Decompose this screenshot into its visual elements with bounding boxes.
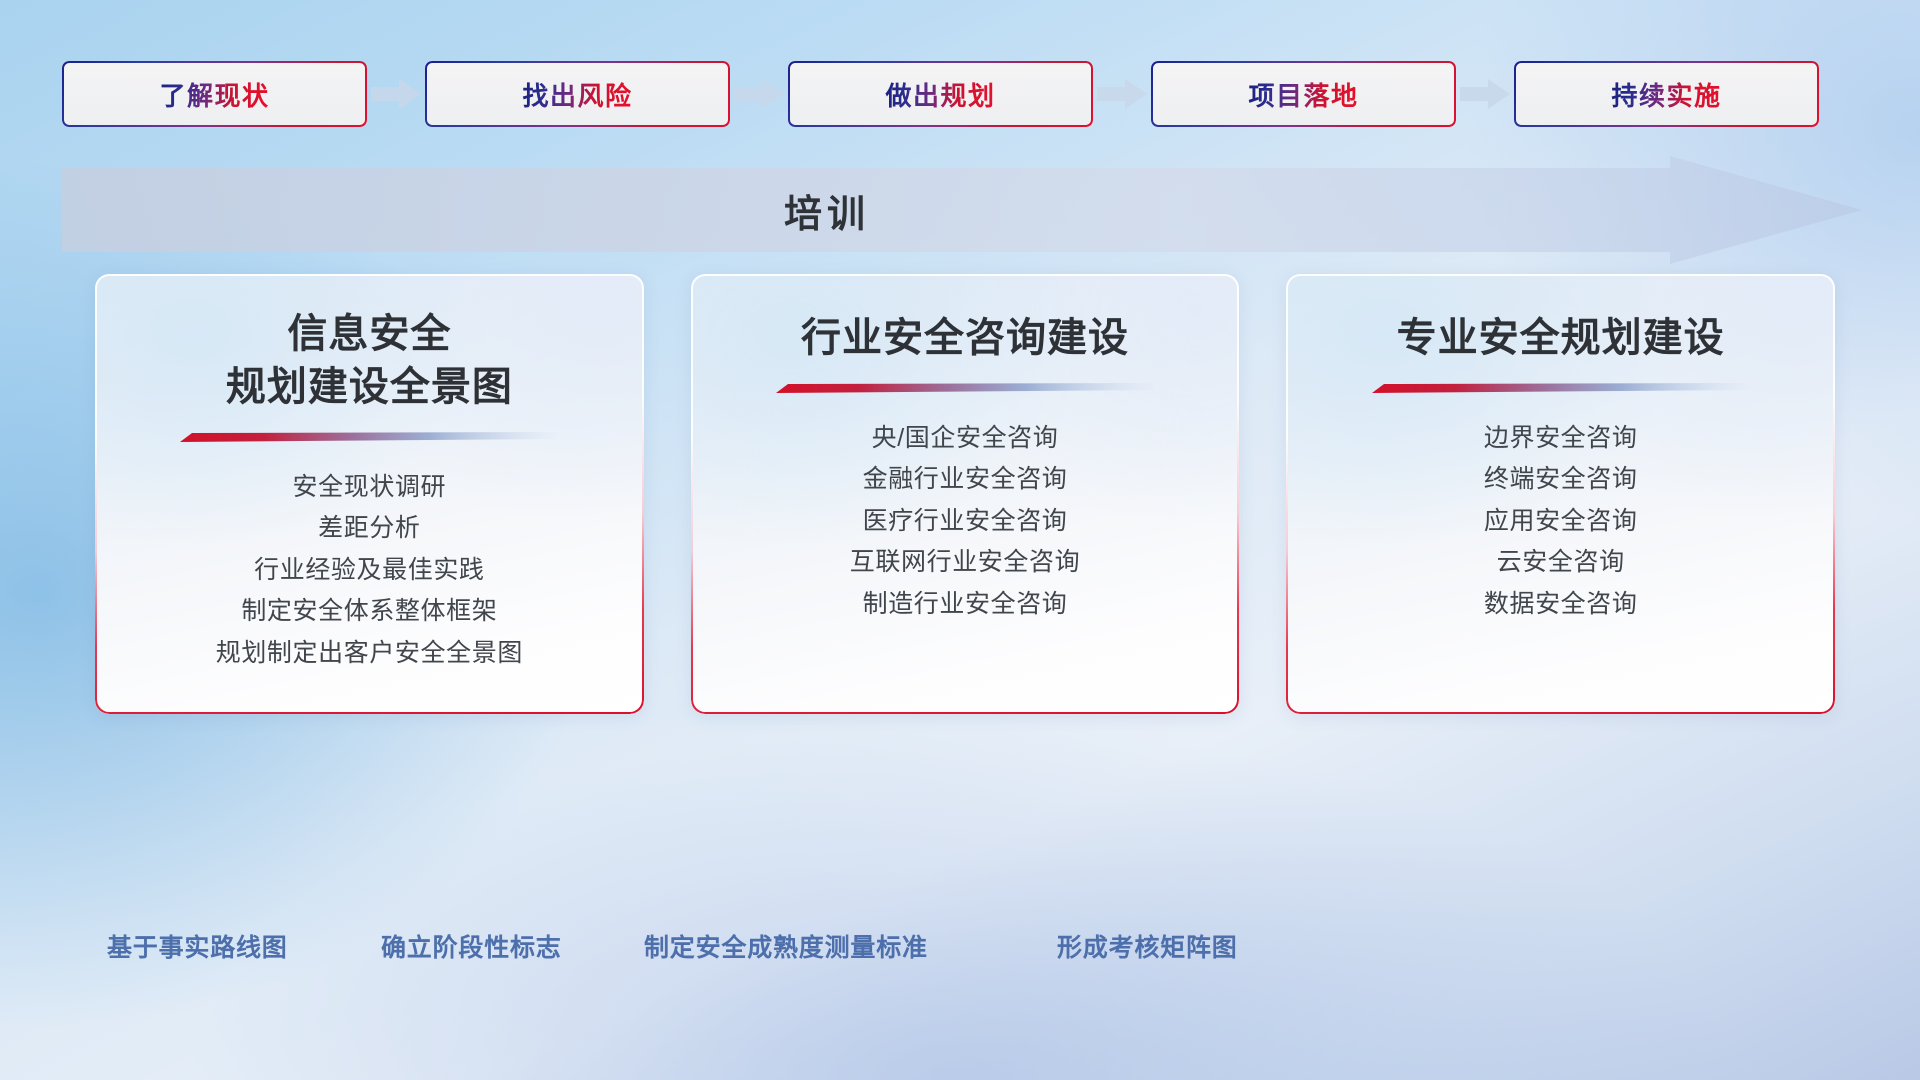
caption-maturity-standard: 制定安全成熟度测量标准 <box>644 928 928 964</box>
caption-row: 基于事实路线图 确立阶段性标志 制定安全成熟度测量标准 形成考核矩阵图 <box>0 928 1920 974</box>
list-item: 制定安全体系整体框架 <box>125 591 614 633</box>
list-item: 边界安全咨询 <box>1316 418 1805 460</box>
step-label: 持续实施 <box>1611 76 1721 113</box>
step-box-1[interactable]: 了解现状 <box>62 61 367 127</box>
list-item: 应用安全咨询 <box>1316 501 1805 543</box>
list-item: 规划制定出客户安全全景图 <box>125 633 614 675</box>
arrow-right-icon <box>369 77 423 111</box>
list-item: 央/国企安全咨询 <box>721 418 1210 460</box>
gradient-divider-icon <box>776 383 1154 394</box>
list-item: 金融行业安全咨询 <box>721 459 1210 501</box>
card-title: 信息安全 规划建设全景图 <box>226 308 513 414</box>
card-item-list: 安全现状调研 差距分析 行业经验及最佳实践 制定安全体系整体框架 规划制定出客户… <box>125 467 614 675</box>
list-item: 医疗行业安全咨询 <box>721 501 1210 543</box>
arrow-right-icon <box>732 77 786 111</box>
diagram-canvas: 了解现状 找出风险 做出规划 项目落地 <box>0 0 1920 1080</box>
card-title: 行业安全咨询建设 <box>801 312 1129 365</box>
card-row: 信息安全 规划建设全景图 <box>95 274 1835 714</box>
gradient-divider-icon <box>180 432 558 443</box>
card-item-list: 边界安全咨询 终端安全咨询 应用安全咨询 云安全咨询 数据安全咨询 <box>1316 418 1805 626</box>
card-title: 专业安全规划建设 <box>1397 312 1725 365</box>
step-box-5[interactable]: 持续实施 <box>1514 61 1819 127</box>
step-box-3[interactable]: 做出规划 <box>788 61 1093 127</box>
list-item: 互联网行业安全咨询 <box>721 542 1210 584</box>
training-label: 培训 <box>62 156 1592 264</box>
list-item: 安全现状调研 <box>125 467 614 509</box>
step-box-2[interactable]: 找出风险 <box>425 61 730 127</box>
list-item: 云安全咨询 <box>1316 542 1805 584</box>
process-step-row: 了解现状 找出风险 做出规划 项目落地 <box>62 61 1862 127</box>
step-box-4[interactable]: 项目落地 <box>1151 61 1456 127</box>
step-label: 做出规划 <box>885 76 995 113</box>
card-item-list: 央/国企安全咨询 金融行业安全咨询 医疗行业安全咨询 互联网行业安全咨询 制造行… <box>721 418 1210 626</box>
list-item: 制造行业安全咨询 <box>721 584 1210 626</box>
training-band: 培训 <box>62 156 1862 264</box>
step-label: 找出风险 <box>522 76 632 113</box>
card-professional-planning[interactable]: 专业安全规划建设 <box>1286 274 1835 714</box>
arrow-right-icon <box>1458 77 1512 111</box>
caption-assessment-matrix: 形成考核矩阵图 <box>1057 928 1238 964</box>
list-item: 行业经验及最佳实践 <box>125 550 614 592</box>
step-label: 了解现状 <box>159 76 269 113</box>
step-label: 项目落地 <box>1248 76 1358 113</box>
arrow-right-icon <box>1095 77 1149 111</box>
caption-milestones: 确立阶段性标志 <box>381 928 562 964</box>
list-item: 终端安全咨询 <box>1316 459 1805 501</box>
card-industry-consulting[interactable]: 行业安全咨询建设 <box>691 274 1240 714</box>
gradient-divider-icon <box>1372 383 1750 394</box>
card-panorama[interactable]: 信息安全 规划建设全景图 <box>95 274 644 714</box>
list-item: 差距分析 <box>125 508 614 550</box>
caption-roadmap: 基于事实路线图 <box>107 928 288 964</box>
list-item: 数据安全咨询 <box>1316 584 1805 626</box>
